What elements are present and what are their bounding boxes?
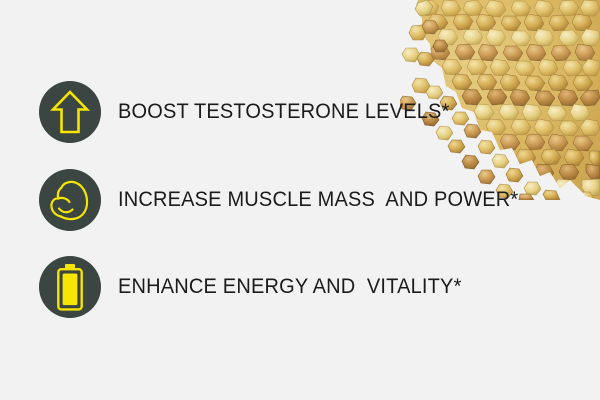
benefits-banner: BOOST TESTOSTERONE LEVELS* INCREASE MUSC… [0, 0, 600, 400]
benefit-label: ENHANCE ENERGY AND VITALITY* [118, 276, 462, 298]
benefit-row: ENHANCE ENERGY AND VITALITY* [0, 252, 600, 322]
flexed-bicep-badge [39, 169, 101, 231]
flexed-bicep-icon [47, 179, 93, 221]
benefit-label: BOOST TESTOSTERONE LEVELS* [118, 101, 450, 123]
up-arrow-badge [39, 81, 101, 143]
benefit-row: INCREASE MUSCLE MASS AND POWER* [0, 165, 600, 235]
benefit-label: INCREASE MUSCLE MASS AND POWER* [118, 189, 518, 211]
battery-icon [55, 263, 85, 311]
battery-badge [39, 256, 101, 318]
up-arrow-icon [50, 89, 90, 135]
benefit-row: BOOST TESTOSTERONE LEVELS* [0, 77, 600, 147]
